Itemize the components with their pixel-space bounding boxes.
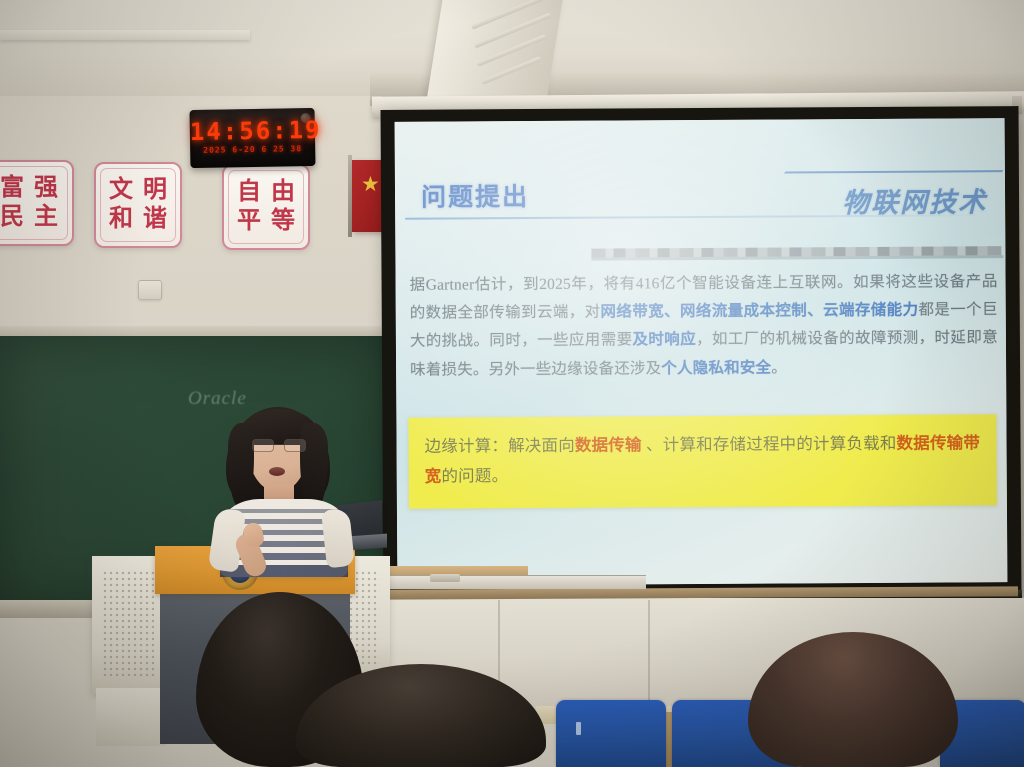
lecturer-at-podium xyxy=(196,405,386,570)
ceiling-molding xyxy=(0,30,250,40)
clock-time-display: 14:56:19 xyxy=(190,116,315,146)
desk-ledge-rail xyxy=(378,575,646,589)
glasses-lens-left xyxy=(252,439,274,452)
placard-inner-rule xyxy=(0,166,68,240)
chair-tag xyxy=(576,722,581,735)
student-chair[interactable] xyxy=(556,700,666,767)
slide-text-run-5: 个人隐私和安全 xyxy=(661,359,771,377)
slide-text-run-3: 及时响应 xyxy=(632,331,696,348)
wall-placard-ziyou-pingdeng: 自由 平等 xyxy=(222,164,310,250)
brand-text: 物联网技术 xyxy=(842,180,987,220)
slide-text-run-6: 。 xyxy=(771,359,787,376)
lecturer-mouth xyxy=(269,467,285,476)
classroom-photo-scene: Oracle 富强 民主 文明 和谐 自由 平等 14:56:19 2025 6… xyxy=(0,0,1024,767)
slide-highlight-text: 边缘计算：解决面向数据传输 、计算和存储过程中的计算负载和数据传输带宽的问题。 xyxy=(424,428,980,491)
lecturer-arm-right xyxy=(321,508,355,569)
cabinet-seam xyxy=(648,600,650,712)
slide-title: 问题提出 xyxy=(421,177,529,214)
slide-text-run-2: 、计算和存储过程中的计算负载和 xyxy=(642,434,897,455)
placard-inner-rule xyxy=(228,170,304,244)
lecturer-glasses-icon xyxy=(252,439,304,450)
wall-placard-wenming-hexie: 文明 和谐 xyxy=(94,162,182,248)
slide-body-text: 据Gartner估计，到2025年，将有416亿个智能设备连上互联网。如果将这些… xyxy=(409,268,998,384)
placard-inner-rule xyxy=(100,168,176,242)
slide-highlight-box: 边缘计算：解决面向数据传输 、计算和存储过程中的计算负载和数据传输带宽的问题。 xyxy=(408,414,997,509)
speaker-grille xyxy=(102,570,154,676)
slide-brandmark: 物联网技术 xyxy=(777,166,997,221)
glasses-lens-right xyxy=(284,439,306,452)
glasses-bridge xyxy=(272,444,284,445)
wall-placard-fuqiang-minzhu: 富强 民主 xyxy=(0,160,74,246)
podium-base xyxy=(96,688,166,746)
wall-switch-plate[interactable] xyxy=(138,280,162,300)
projection-screen-surface: 问题提出 物联网技术 据Gartner估计，到2025年，将有416亿个智能设备… xyxy=(395,118,1008,586)
slide-text-run-4: 的问题。 xyxy=(441,466,508,485)
slide-text-run-1: 数据传输 xyxy=(575,435,642,454)
ceiling-vent-beam xyxy=(426,0,565,102)
desk-ledge-clip xyxy=(430,574,460,582)
lecturer-hair-side-right xyxy=(300,423,328,509)
projection-screen: 问题提出 物联网技术 据Gartner估计，到2025年，将有416亿个智能设备… xyxy=(381,106,1022,600)
podium-speaker-left xyxy=(92,556,164,694)
slide-text-run-1: 网络带宽、网络流量成本控制、云端存储能力 xyxy=(600,302,918,321)
slide-text-run-0: 边缘计算：解决面向 xyxy=(425,436,575,456)
presentation-slide: 问题提出 物联网技术 据Gartner估计，到2025年，将有416亿个智能设备… xyxy=(395,118,1008,586)
led-wall-clock: 14:56:19 2025 6-20 6 25 38 xyxy=(190,108,316,168)
clock-date-display: 2025 6-20 6 25 38 xyxy=(190,144,315,155)
lecturer-hair-side-left xyxy=(228,423,254,507)
